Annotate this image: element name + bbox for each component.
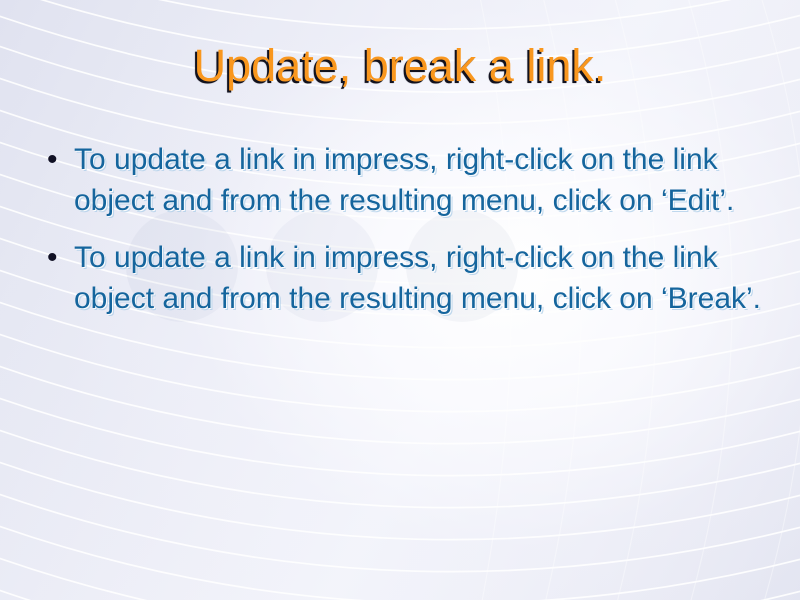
list-item: • To update a link in impress, right-cli… [42, 139, 772, 221]
slide-title: Update, break a link. [0, 40, 800, 92]
list-item: • To update a link in impress, right-cli… [42, 237, 772, 319]
presentation-slide: Update, break a link. • To update a link… [0, 0, 800, 600]
bullet-text: To update a link in impress, right-click… [74, 237, 772, 319]
bullet-marker-icon: • [42, 139, 74, 180]
slide-body-content: • To update a link in impress, right-cli… [42, 139, 772, 319]
bullet-text: To update a link in impress, right-click… [74, 139, 772, 221]
bullet-marker-icon: • [42, 237, 74, 278]
